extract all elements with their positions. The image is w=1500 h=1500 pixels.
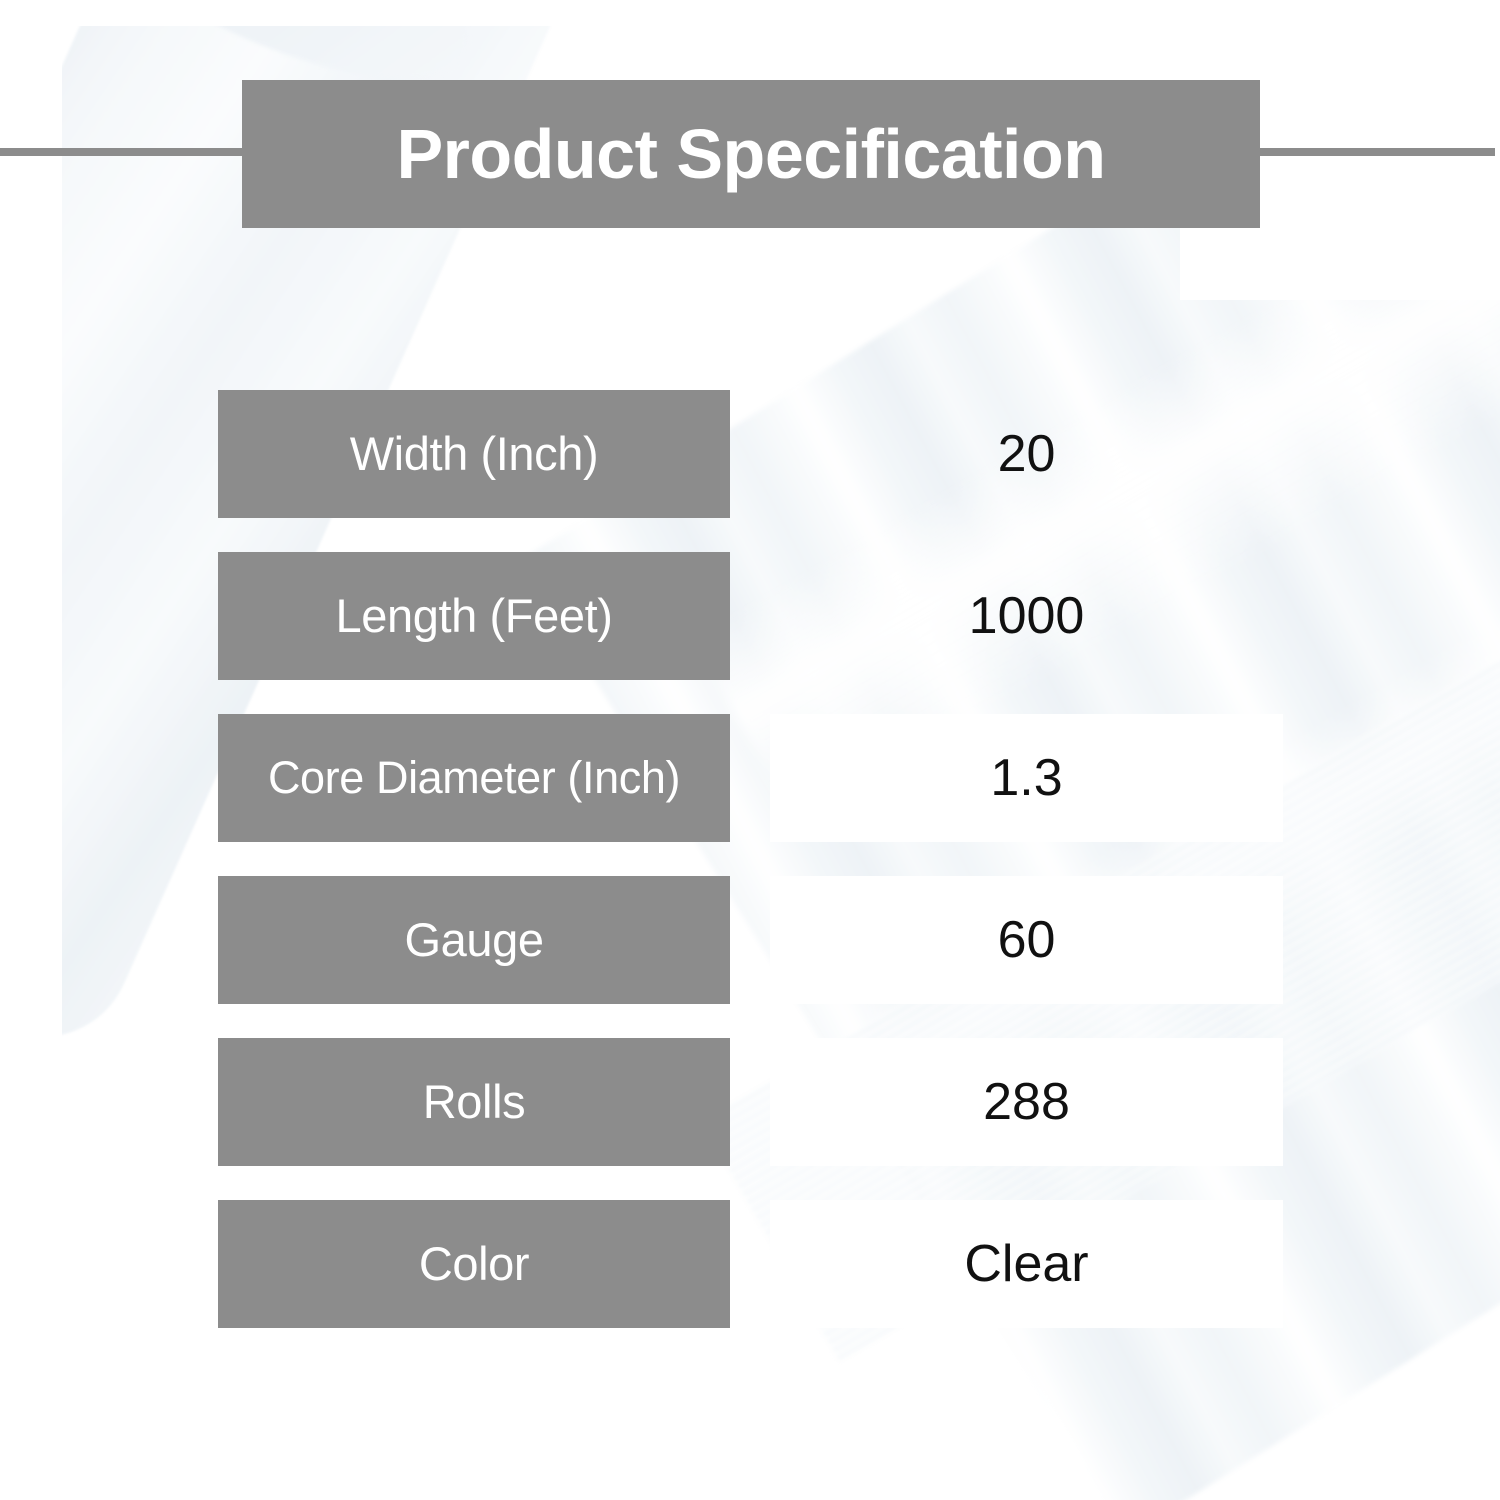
table-row: Length (Feet)1000 (0, 552, 1500, 714)
header-rule-left (0, 148, 248, 156)
spec-value-cell: Clear (770, 1200, 1283, 1328)
spec-label-cell: Rolls (218, 1038, 730, 1166)
table-row: Gauge60 (0, 876, 1500, 1038)
specification-table: Width (Inch)20Length (Feet)1000Core Diam… (0, 390, 1500, 1362)
spec-label-cell: Length (Feet) (218, 552, 730, 680)
page-title: Product Specification (396, 119, 1105, 189)
spec-value-cell: 1000 (770, 552, 1283, 680)
spec-value: 60 (998, 914, 1056, 966)
spec-label-cell: Width (Inch) (218, 390, 730, 518)
spec-label: Color (419, 1240, 529, 1289)
table-row: ColorClear (0, 1200, 1500, 1362)
table-row: Core Diameter (Inch)1.3 (0, 714, 1500, 876)
background-margin-top (0, 0, 1500, 26)
spec-label: Core Diameter (Inch) (268, 755, 680, 802)
spec-label-cell: Color (218, 1200, 730, 1328)
spec-value-cell: 20 (770, 390, 1283, 518)
table-row: Rolls288 (0, 1038, 1500, 1200)
spec-value: Clear (964, 1238, 1088, 1290)
product-specification-infographic: Product Specification Width (Inch)20Leng… (0, 0, 1500, 1500)
spec-value: 1.3 (990, 752, 1062, 804)
spec-label: Rolls (423, 1078, 525, 1127)
spec-label-cell: Core Diameter (Inch) (218, 714, 730, 842)
background-margin-bottom-left (0, 1360, 620, 1500)
spec-value: 288 (983, 1076, 1070, 1128)
spec-value: 20 (998, 428, 1056, 480)
spec-label: Gauge (404, 916, 543, 965)
spec-label: Width (Inch) (350, 430, 599, 479)
spec-label-cell: Gauge (218, 876, 730, 1004)
spec-value-cell: 1.3 (770, 714, 1283, 842)
page-title-banner: Product Specification (242, 80, 1260, 228)
spec-label: Length (Feet) (336, 592, 613, 641)
spec-value-cell: 288 (770, 1038, 1283, 1166)
spec-value-cell: 60 (770, 876, 1283, 1004)
table-row: Width (Inch)20 (0, 390, 1500, 552)
header-rule-right (1255, 148, 1495, 156)
spec-value: 1000 (969, 590, 1085, 642)
